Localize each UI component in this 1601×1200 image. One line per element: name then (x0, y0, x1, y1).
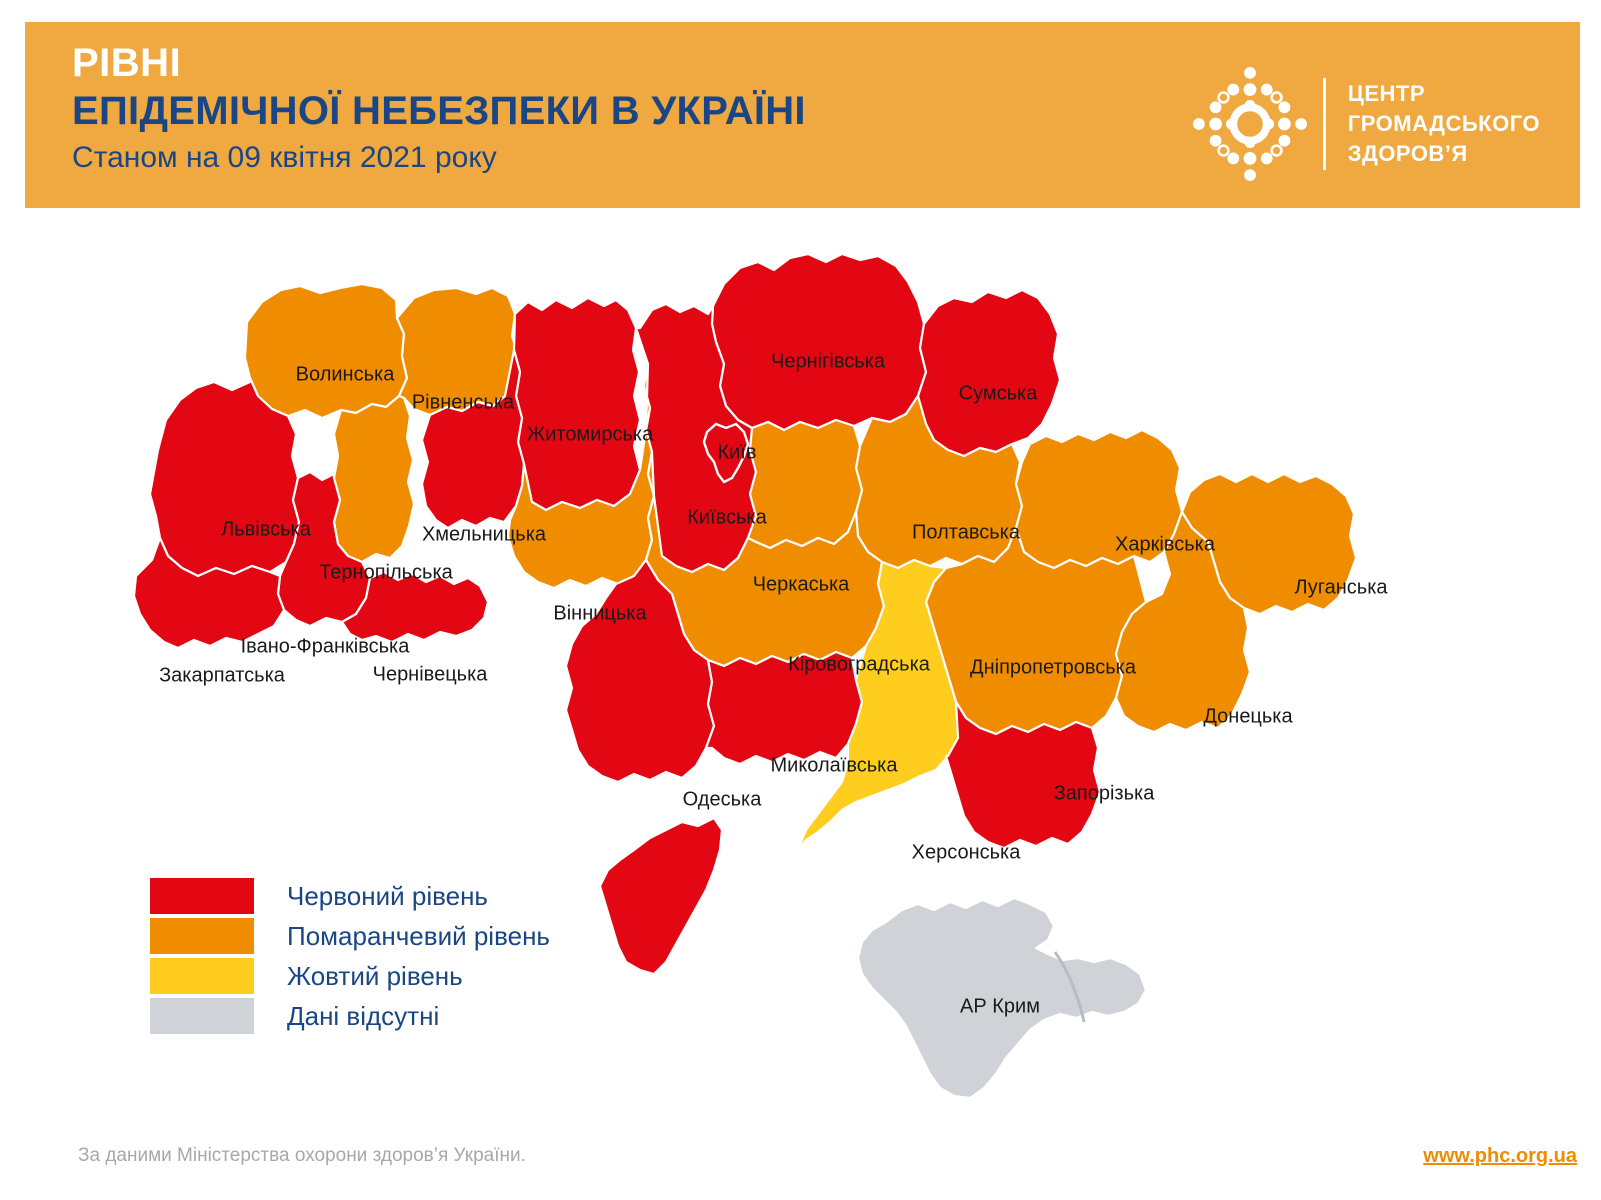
legend-swatch-yellow (150, 958, 254, 994)
map-region-zhytomyr[interactable] (514, 298, 640, 510)
page-title-line1: РІВНІ (72, 40, 806, 86)
map-region-chernihiv[interactable] (712, 254, 926, 430)
map-region-kharkiv[interactable] (1016, 430, 1182, 568)
legend-item-orange: Помаранчевий рівень (150, 917, 580, 955)
legend-label-red: Червоний рівень (287, 878, 488, 914)
legend-swatch-no-data (150, 998, 254, 1034)
logo-wordmark: ЦЕНТР ГРОМАДСЬКОГО ЗДОРОВ’Я (1348, 79, 1540, 169)
legend-swatch-red (150, 878, 254, 914)
map-legend: Червоний рівень Помаранчевий рівень Жовт… (150, 877, 580, 1037)
map-region-cherkasy[interactable] (748, 420, 862, 548)
page-subtitle-date: Станом на 09 квітня 2021 року (72, 136, 806, 180)
legend-item-no-data: Дані відсутні (150, 997, 580, 1035)
map-region-ternopil[interactable] (334, 396, 414, 562)
phc-dots-diamond-logo-icon (1191, 65, 1309, 183)
logo-line-3: ЗДОРОВ’Я (1348, 139, 1540, 169)
map-label-zakarpattia: Закарпатська (159, 664, 286, 686)
map-region-crimea[interactable] (858, 898, 1146, 1098)
legend-item-red: Червоний рівень (150, 877, 580, 915)
phc-logo: ЦЕНТР ГРОМАДСЬКОГО ЗДОРОВ’Я (1191, 64, 1540, 184)
map-region-sumy[interactable] (918, 290, 1060, 456)
page-title-line2: ЕПІДЕМІЧНОЇ НЕБЕЗПЕКИ В УКРАЇНІ (72, 86, 806, 136)
map-region-mykolaiv[interactable] (706, 652, 862, 764)
legend-label-yellow: Жовтий рівень (287, 958, 463, 994)
legend-label-orange: Помаранчевий рівень (287, 918, 550, 954)
footer-website-link[interactable]: www.phc.org.ua (1423, 1145, 1577, 1168)
legend-label-no-data: Дані відсутні (287, 998, 439, 1034)
logo-line-1: ЦЕНТР (1348, 79, 1540, 109)
map-region-volyn[interactable] (245, 284, 407, 418)
logo-line-2: ГРОМАДСЬКОГО (1348, 109, 1540, 139)
map-region-rivne[interactable] (397, 288, 519, 415)
header-text-block: РІВНІ ЕПІДЕМІЧНОЇ НЕБЕЗПЕКИ В УКРАЇНІ Ст… (72, 40, 806, 180)
footer-source-note: За даними Міністерства охорони здоров’я … (78, 1145, 526, 1167)
header-banner: РІВНІ ЕПІДЕМІЧНОЇ НЕБЕЗПЕКИ В УКРАЇНІ Ст… (25, 22, 1580, 208)
map-region-odesa[interactable] (600, 818, 722, 974)
map-label-chernivtsi: Чернівецька (373, 663, 489, 685)
legend-item-yellow: Жовтий рівень (150, 957, 580, 995)
logo-divider (1323, 78, 1326, 170)
map-label-odesa: Одеська (683, 788, 763, 810)
legend-swatch-orange (150, 918, 254, 954)
